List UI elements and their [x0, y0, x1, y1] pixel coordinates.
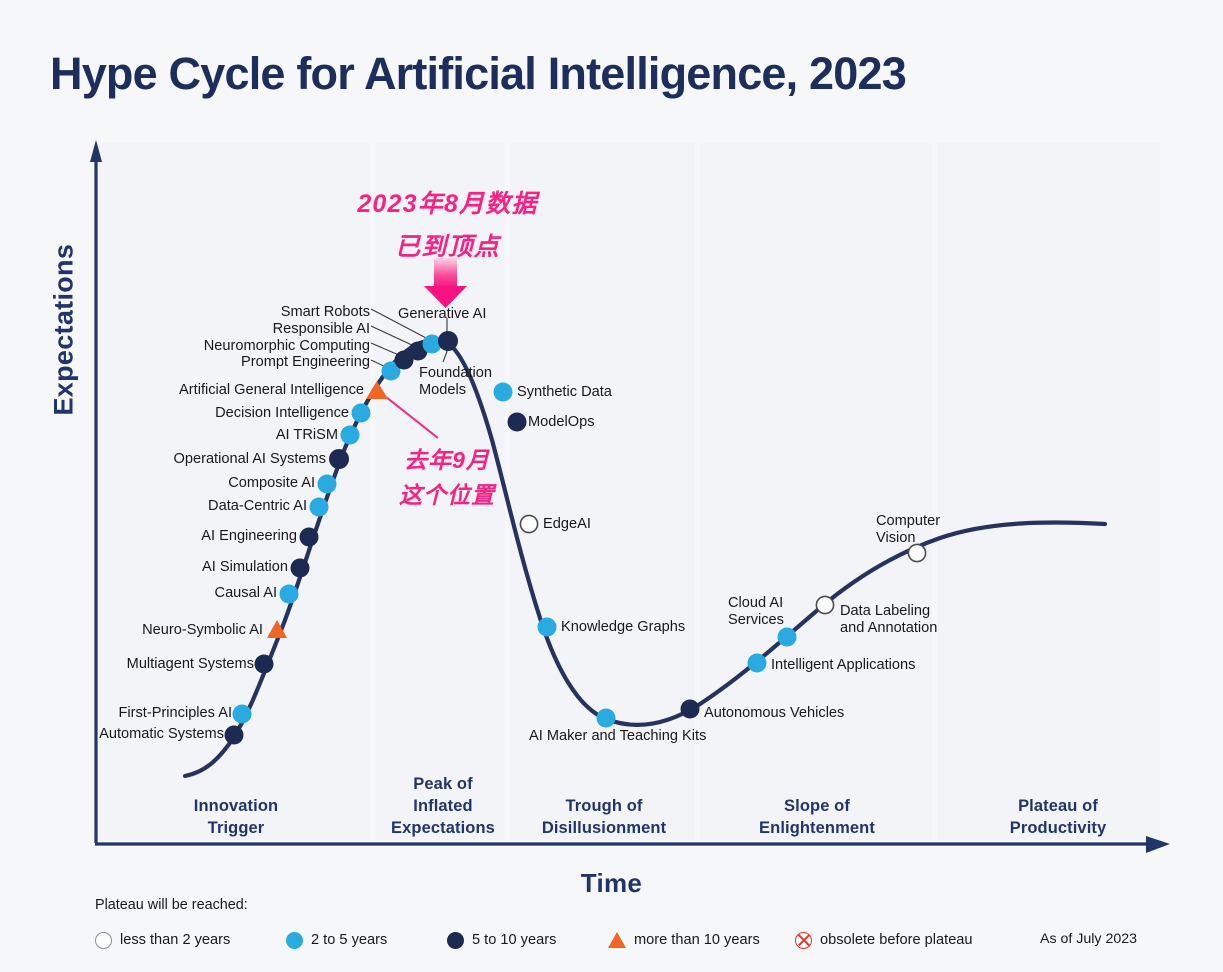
phase-line: Trough of: [514, 795, 694, 817]
phase-line: Enlightenment: [726, 817, 908, 839]
annotation-lastyear-line2: 这个位置: [387, 478, 507, 513]
point-label-synthetic-data: Synthetic Data: [517, 384, 612, 401]
point-label-computer-vision: Computer Vision: [876, 513, 956, 546]
legend-item-obsolete-before-plateau: obsolete before plateau: [795, 927, 973, 953]
phase-line: Productivity: [968, 817, 1148, 839]
phase-line: Plateau of: [968, 795, 1148, 817]
point-label-knowledge-graphs: Knowledge Graphs: [561, 619, 685, 636]
legend-item-less-than-2-years: less than 2 years: [95, 927, 230, 953]
phase-label-trough-of-disillusionment: Trough of Disillusionment: [514, 795, 694, 839]
legend-item-2-to-5-years: 2 to 5 years: [286, 927, 387, 953]
navy-circle-icon: [447, 932, 464, 949]
point-label-automatic-systems: Automatic Systems: [0, 726, 224, 743]
point-label-generative-ai: Generative AI: [398, 306, 486, 323]
phase-line: Slope of: [726, 795, 908, 817]
legend-item-label: 5 to 10 years: [472, 932, 556, 948]
legend: less than 2 years 2 to 5 years 5 to 10 y…: [95, 927, 1155, 953]
orange-triangle-icon: [608, 932, 626, 948]
point-label-artificial-general-intelligence: Artificial General Intelligence: [0, 382, 364, 399]
point-label-first-principles-ai: First-Principles AI: [0, 705, 232, 722]
annotation-lastyear-note: 去年9月 这个位置: [387, 443, 507, 513]
phase-line: Inflated: [367, 795, 519, 817]
annotation-peak-line1: 2023年8月数据: [340, 183, 555, 226]
point-label-ai-simulation: AI Simulation: [0, 559, 288, 576]
point-label-ai-maker-and-teaching-kits: AI Maker and Teaching Kits: [529, 728, 706, 745]
legend-title: Plateau will be reached:: [95, 897, 248, 913]
point-label-multiagent-systems: Multiagent Systems: [0, 656, 254, 673]
annotation-peak-note: 2023年8月数据 已到顶点: [340, 183, 555, 269]
as-of-date: As of July 2023: [1040, 931, 1137, 947]
x-axis-label: Time: [0, 868, 1223, 899]
phase-label-innovation-trigger: Innovation Trigger: [160, 795, 312, 839]
point-label-prompt-engineering: Prompt Engineering: [0, 354, 370, 371]
point-label-causal-ai: Causal AI: [0, 585, 277, 602]
point-label-smart-robots: Smart Robots: [0, 304, 370, 321]
phase-label-slope-of-enlightenment: Slope of Enlightenment: [726, 795, 908, 839]
legend-item-5-to-10-years: 5 to 10 years: [447, 927, 556, 953]
point-label-modelops: ModelOps: [528, 414, 595, 431]
phase-label-peak-of-inflated-expectations: Peak of Inflated Expectations: [367, 773, 519, 839]
point-label-data-centric-ai: Data-Centric AI: [0, 498, 307, 515]
point-label-autonomous-vehicles: Autonomous Vehicles: [704, 705, 844, 722]
legend-item-label: obsolete before plateau: [820, 932, 973, 948]
legend-item-more-than-10-years: more than 10 years: [608, 927, 760, 953]
cyan-circle-icon: [286, 932, 303, 949]
annotation-lastyear-line1: 去年9月: [387, 443, 507, 478]
point-label-intelligent-applications: Intelligent Applications: [771, 657, 915, 674]
point-label-neuromorphic-computing: Neuromorphic Computing: [0, 338, 370, 355]
point-label-foundation-models: Foundation Models: [419, 365, 503, 398]
obsolete-x-icon: [795, 932, 812, 949]
hollow-circle-icon: [95, 932, 112, 949]
legend-item-label: more than 10 years: [634, 932, 760, 948]
point-label-data-labeling-and-annotation: Data Labeling and Annotation: [840, 603, 958, 636]
point-label-ai-engineering: AI Engineering: [0, 528, 297, 545]
point-label-cloud-ai-services: Cloud AI Services: [728, 595, 804, 628]
phase-line: Expectations: [367, 817, 519, 839]
point-label-ai-trism: AI TRiSM: [0, 427, 338, 444]
legend-item-label: less than 2 years: [120, 932, 230, 948]
legend-item-label: 2 to 5 years: [311, 932, 387, 948]
point-label-neuro-symbolic-ai: Neuro-Symbolic AI: [0, 622, 263, 639]
point-label-operational-ai-systems: Operational AI Systems: [0, 451, 326, 468]
phase-label-plateau-of-productivity: Plateau of Productivity: [968, 795, 1148, 839]
phase-line: Innovation: [160, 795, 312, 817]
point-label-edgeai: EdgeAI: [543, 516, 591, 533]
phase-line: Peak of: [367, 773, 519, 795]
phase-line: Trigger: [160, 817, 312, 839]
phase-line: Disillusionment: [514, 817, 694, 839]
point-label-composite-ai: Composite AI: [0, 475, 315, 492]
annotation-peak-line2: 已到顶点: [340, 226, 555, 269]
point-label-decision-intelligence: Decision Intelligence: [0, 405, 349, 422]
point-label-responsible-ai: Responsible AI: [0, 321, 370, 338]
